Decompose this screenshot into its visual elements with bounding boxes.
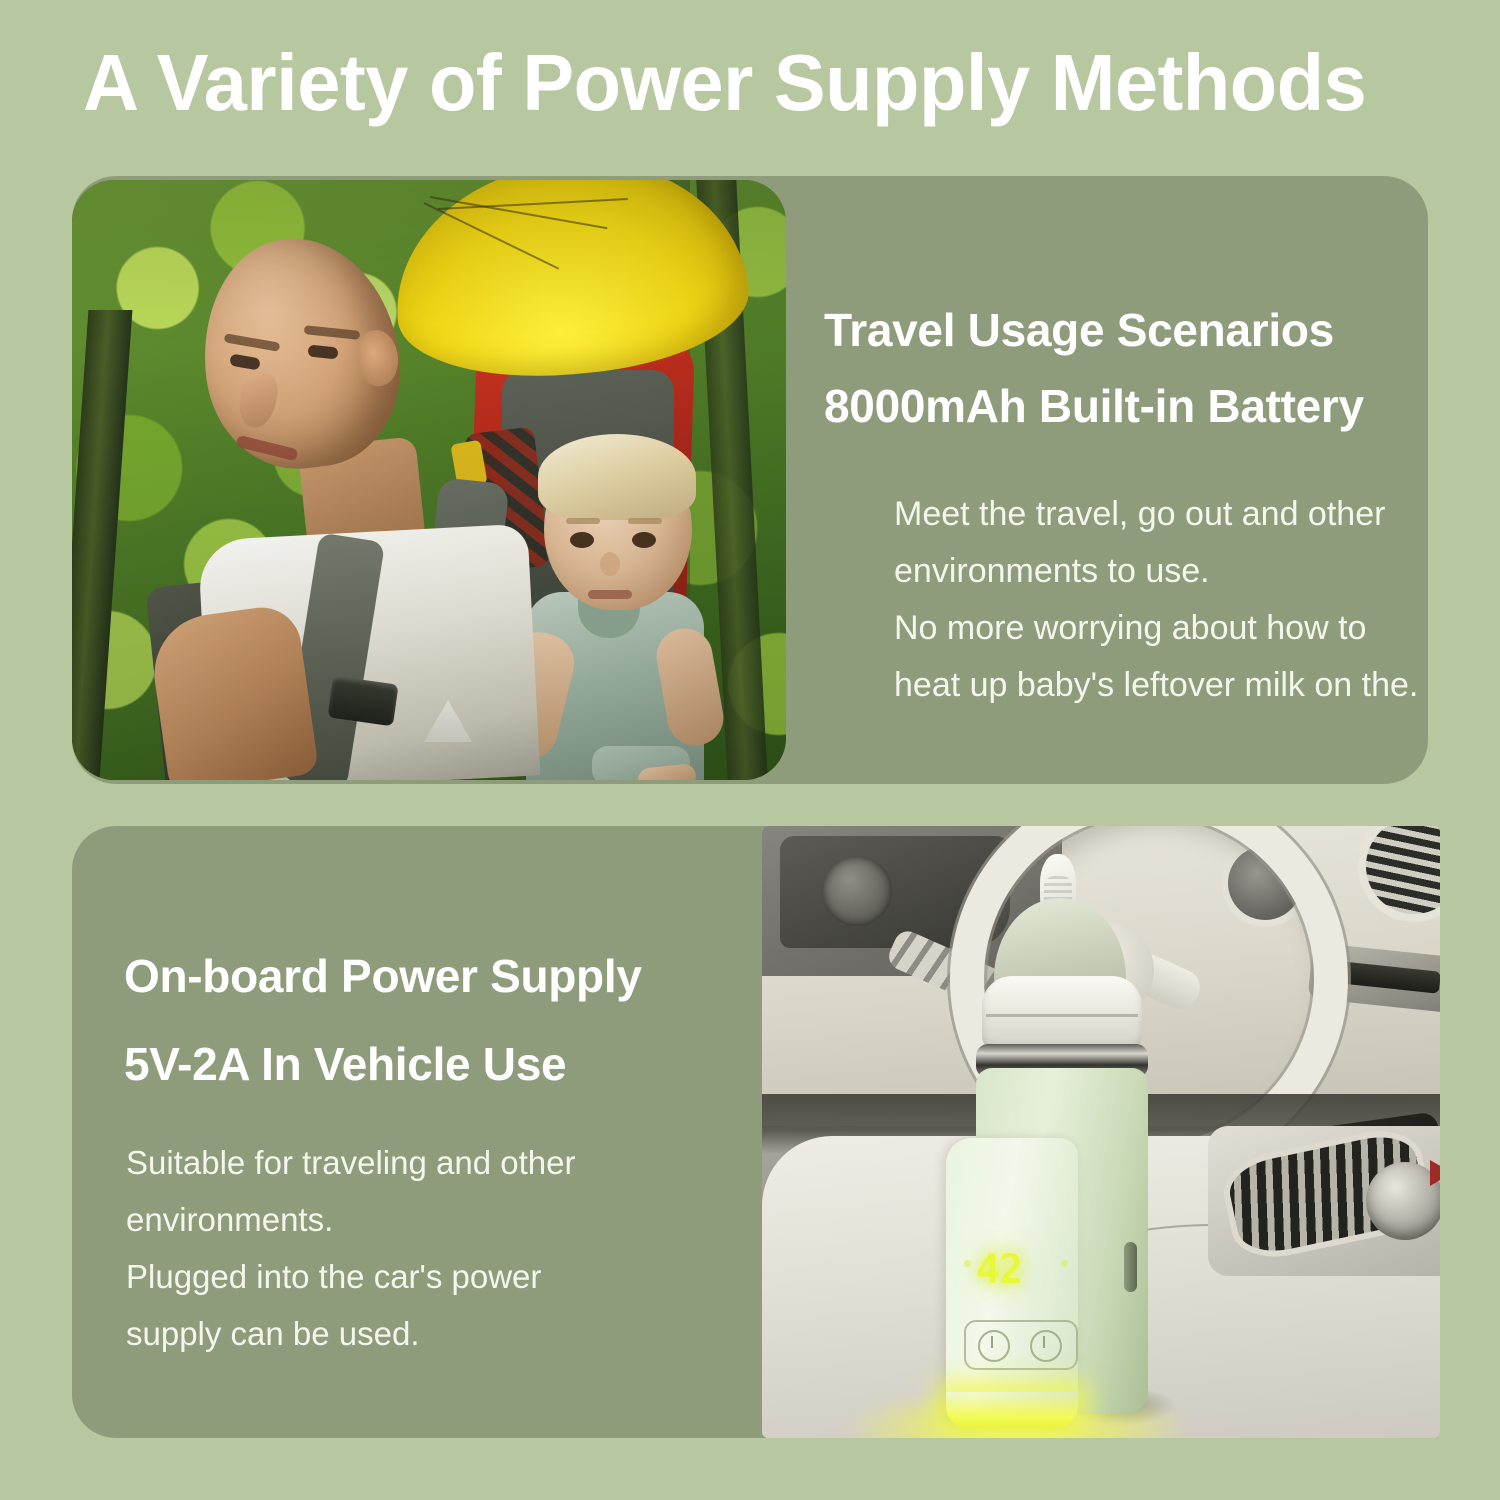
vehicle-heading: On-board Power Supply 5V-2A In Vehicle U… [124, 932, 824, 1108]
travel-photo [72, 180, 786, 780]
console-control-knob [1366, 1162, 1440, 1240]
travel-text-column: Travel Usage Scenarios 8000mAh Built-in … [822, 176, 1428, 784]
travel-body-line-3: No more worrying about how to [894, 600, 1500, 657]
vehicle-heading-line-1: On-board Power Supply [124, 932, 824, 1020]
bottle-warmer-product: 42 [938, 846, 1178, 1438]
vehicle-body-line-3: Plugged into the car's power [126, 1248, 786, 1305]
vehicle-photo: 42 [762, 826, 1440, 1438]
child-eyebrow [628, 518, 662, 524]
vehicle-body-line-2: environments. [126, 1191, 786, 1248]
travel-body-line-2: environments to use. [894, 543, 1500, 600]
base-led-glow [946, 1392, 1078, 1428]
vehicle-body: Suitable for traveling and other environ… [126, 1134, 786, 1362]
usb-c-port [1124, 1242, 1137, 1292]
temperature-display: 42 [976, 1242, 1050, 1298]
strap-buckle [327, 676, 398, 727]
vehicle-heading-line-2: 5V-2A In Vehicle Use [124, 1020, 824, 1108]
mode-button[interactable] [1030, 1330, 1062, 1362]
child-hair [538, 434, 696, 520]
travel-body-line-4: heat up baby's leftover milk on the. [894, 657, 1500, 714]
travel-body-line-1: Meet the travel, go out and other [894, 486, 1500, 543]
page-title: A Variety of Power Supply Methods [83, 38, 1402, 128]
bottle-cap-ring [982, 976, 1142, 1052]
child-eye [632, 532, 656, 548]
travel-body: Meet the travel, go out and other enviro… [894, 486, 1500, 714]
travel-heading-line-1: Travel Usage Scenarios [824, 292, 1424, 368]
vehicle-body-line-1: Suitable for traveling and other [126, 1134, 786, 1191]
travel-heading: Travel Usage Scenarios 8000mAh Built-in … [824, 292, 1424, 444]
child-nose [600, 552, 620, 576]
power-button[interactable] [978, 1330, 1010, 1362]
section-vehicle: On-board Power Supply 5V-2A In Vehicle U… [72, 826, 1440, 1438]
control-button-group[interactable] [964, 1320, 1078, 1370]
speedometer-dial [822, 856, 892, 926]
child-eyebrow [566, 518, 600, 524]
child-eye [570, 532, 594, 548]
section-travel: Travel Usage Scenarios 8000mAh Built-in … [72, 176, 1428, 784]
vehicle-body-line-4: supply can be used. [126, 1305, 786, 1362]
child-mouth [588, 590, 632, 599]
travel-heading-line-2: 8000mAh Built-in Battery [824, 368, 1424, 444]
